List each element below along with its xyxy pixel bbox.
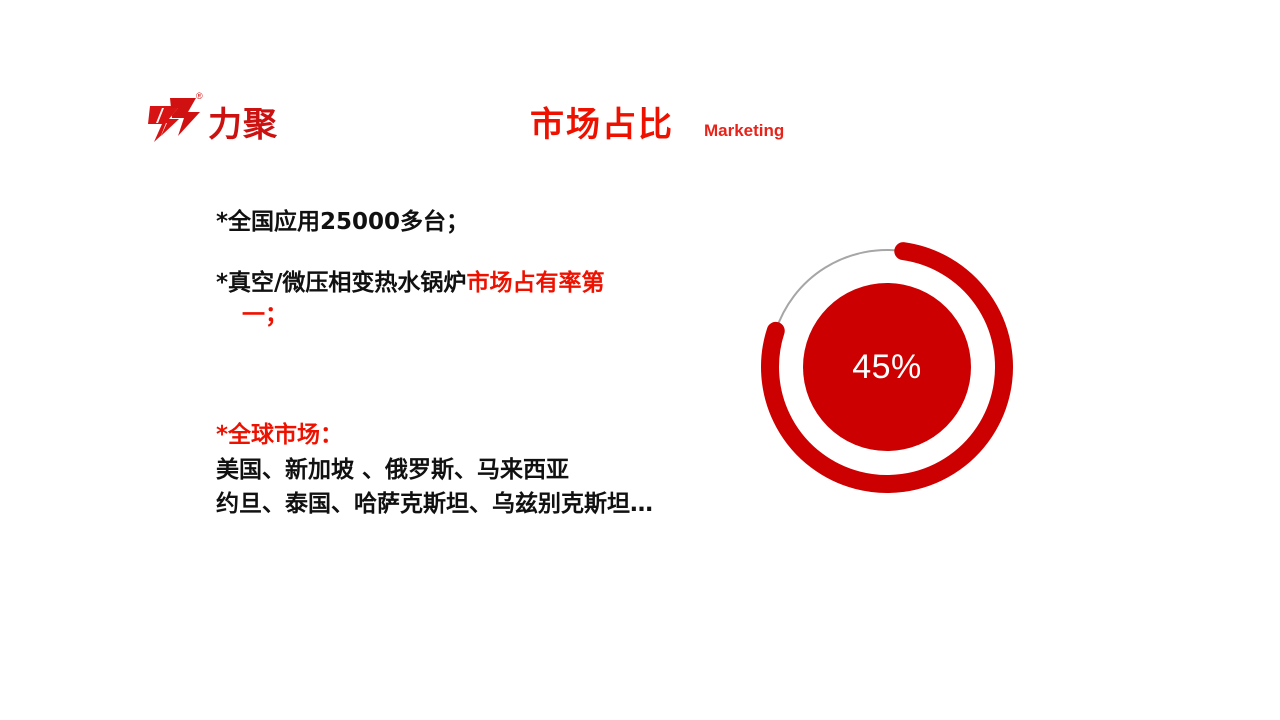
global-market-block: *全球市场： 美国、新加坡 、俄罗斯、马来西亚 约旦、泰国、哈萨克斯坦、乌兹别克… [216,418,776,522]
bullet-text-highlight: 市场占有率第 [466,270,604,296]
bullet-list-top: *全国应用25000多台； *真空/微压相变热水锅炉市场占有率第 一； [216,206,726,332]
market-share-donut-chart: 45% [752,232,1022,502]
bullet-text-highlight-wrapped: 一； [216,299,726,332]
bullet-prefix: * [216,209,228,235]
registered-trademark-icon: ® [196,92,203,101]
lightning-bolt-emblem-icon: ® [148,96,202,144]
page-title: 市场占比 [530,108,674,142]
page-title-row: 市场占比 Marketing [530,108,784,142]
bullet-spacer [216,239,726,267]
page-subtitle: Marketing [704,122,784,139]
global-market-line: 约旦、泰国、哈萨克斯坦、乌兹别克斯坦… [216,487,776,522]
global-market-heading: *全球市场： [216,418,776,453]
bullet-item-domestic: *全国应用25000多台； [216,206,726,239]
bullet-prefix: * [216,270,228,296]
global-market-line: 美国、新加坡 、俄罗斯、马来西亚 [216,453,776,488]
logo-wordmark: 力聚 [208,108,278,142]
slide-canvas: ® 力聚 市场占比 Marketing *全国应用25000多台； *真空/微压… [0,0,1280,720]
brand-logo: ® 力聚 [148,88,278,144]
bullet-text-black: 真空/微压相变热水锅炉 [228,270,466,296]
bullet-text: 全国应用25000多台； [228,209,469,235]
bullet-item-marketshare: *真空/微压相变热水锅炉市场占有率第 一； [216,267,726,332]
donut-inner-disc [803,283,971,451]
